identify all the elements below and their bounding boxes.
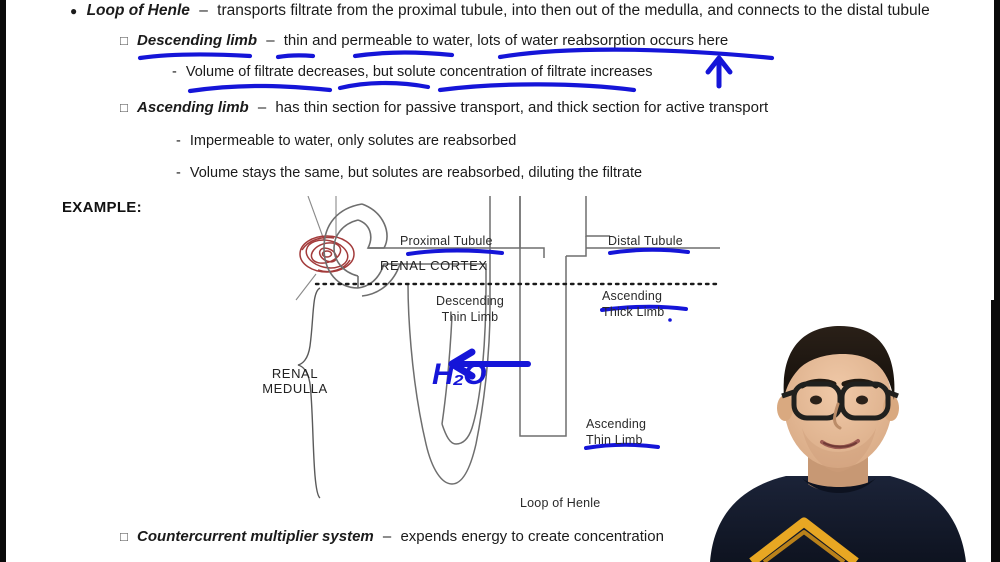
underline-thin [278,55,313,57]
label-ascending-thick-line1: Ascending [602,288,664,304]
label-renal-medulla-line2: MEDULLA [260,381,330,396]
bullet-dash: – [383,528,391,545]
lecture-slide: ● Loop of Henle – transports filtrate fr… [0,0,1000,562]
presenter-webcam-overlay[interactable] [690,300,994,562]
presenter-figure [690,300,994,562]
bullet-term: Countercurrent multiplier system [137,528,374,545]
presenter-head [777,326,899,472]
label-ascending-thin-line2: Thin Limb [586,432,646,448]
example-label: EXAMPLE: [62,199,142,216]
letterbox-bar-left [0,0,6,562]
label-distal-tubule: Distal Tubule [608,234,683,248]
bullet-marker-square: □ [120,529,128,544]
underline-water-reabsorption [500,50,772,58]
label-descending-line1: Descending [420,293,520,309]
label-renal-medulla-line1: RENAL [260,366,330,381]
up-arrow-annotation [708,58,730,86]
label-renal-cortex: RENAL CORTEX [380,258,488,273]
underline-proximal-tubule [408,251,502,255]
label-ascending-thin-line1: Ascending [586,416,646,432]
label-loop-of-henle: Loop of Henle [520,496,600,510]
label-ascending-thin-limb: Ascending Thin Limb [586,416,646,448]
underline-but-solute [340,83,428,88]
blue-ink-annotations-text [0,0,1000,200]
bowmans-capsule [324,204,400,296]
underline-volume-decreases [190,86,330,91]
bullet-countercurrent-multiplier: □ Countercurrent multiplier system – exp… [120,528,664,545]
nephron-diagram: Proximal Tubule Distal Tubule RENAL CORT… [280,196,720,516]
label-descending-thin-limb: Descending Thin Limb [420,293,520,325]
label-ascending-thick-line2: Thick Limb [602,304,664,320]
underline-permeable-water [355,53,452,57]
label-descending-line2: Thin Limb [420,309,520,325]
letterbox-bar-right [994,0,1000,562]
underline-concentration-increases [440,84,634,90]
underline-distal-tubule [610,250,688,253]
label-ascending-thick-limb: Ascending Thick Limb [602,288,664,320]
label-proximal-tubule: Proximal Tubule [400,234,493,248]
handwritten-h2o-annotation: H₂O [432,358,485,392]
underline-descending-limb [140,54,250,58]
bullet-body: expends energy to create concentration [400,528,664,545]
label-renal-medulla: RENAL MEDULLA [260,366,330,396]
ink-dot [668,318,672,322]
